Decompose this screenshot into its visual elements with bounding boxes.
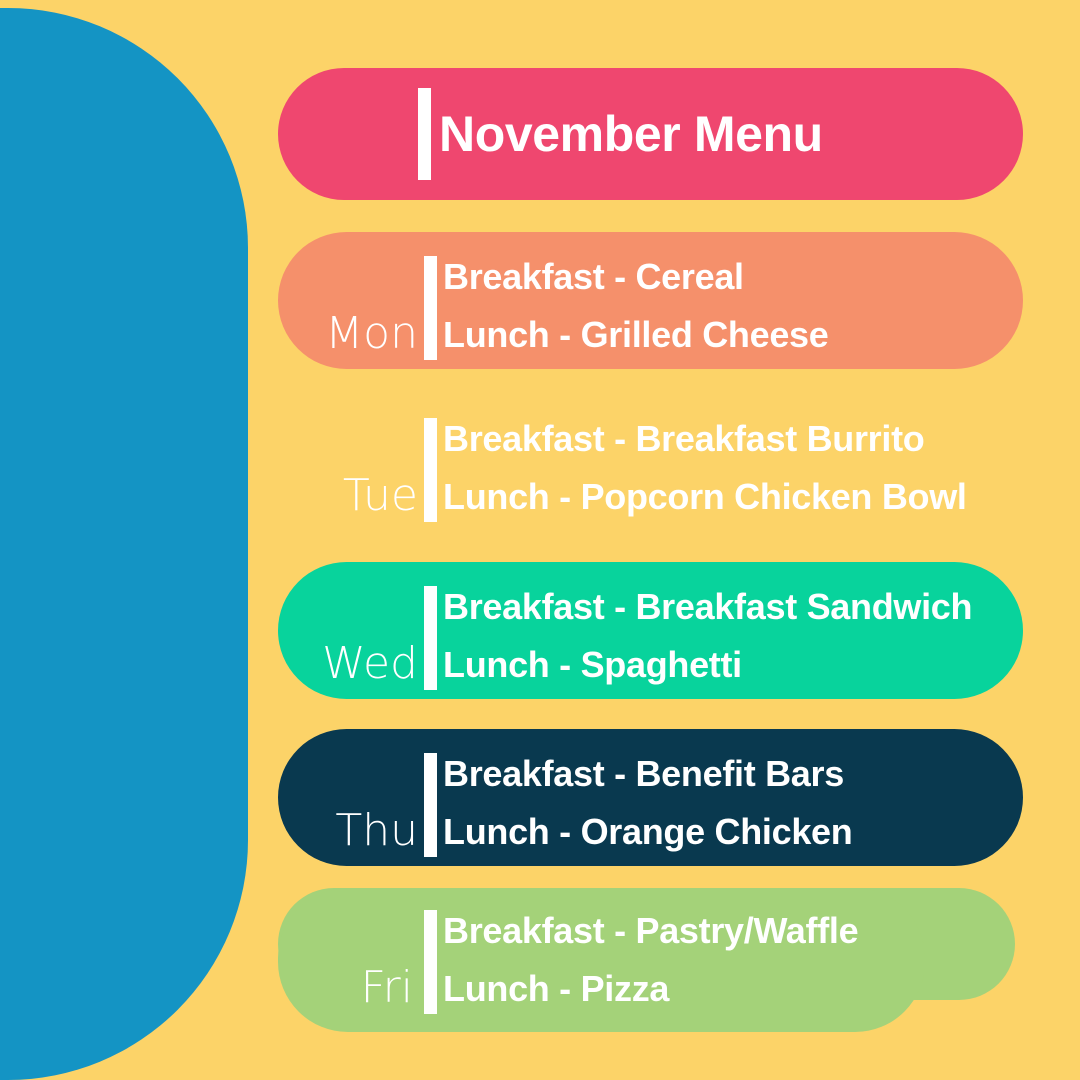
meal-list-mon: Breakfast - Cereal Lunch - Grilled Chees… [443,254,828,358]
lunch-line-mon: Lunch - Grilled Cheese [443,306,828,364]
day-row-mon: Mon Breakfast - Cereal Lunch - Grilled C… [278,232,1023,369]
blue-rounded-blob-decoration [0,8,248,1080]
breakfast-line-wed: Breakfast - Breakfast Sandwich [443,578,972,636]
day-row-content-fri: Fri Breakfast - Pastry/Waffle Lunch - Pi… [278,888,1023,1032]
meal-list-thu: Breakfast - Benefit Bars Lunch - Orange … [443,751,852,855]
day-accent-bar-icon-tue [424,418,437,522]
day-accent-bar-icon-fri [424,910,437,1014]
breakfast-line-fri: Breakfast - Pastry/Waffle [443,902,858,960]
day-row-wed: Wed Breakfast - Breakfast Sandwich Lunch… [278,562,1023,699]
breakfast-line-mon: Breakfast - Cereal [443,248,828,306]
day-accent-bar-icon-mon [424,256,437,360]
day-accent-bar-icon-wed [424,586,437,690]
day-row-content-tue: Tue Breakfast - Breakfast Burrito Lunch … [278,394,1023,531]
lunch-line-fri: Lunch - Pizza [443,960,858,1018]
meal-list-wed: Breakfast - Breakfast Sandwich Lunch - S… [443,584,972,688]
header-pill: November Menu [278,68,1023,200]
breakfast-line-tue: Breakfast - Breakfast Burrito [443,410,967,468]
header-accent-bar-icon [418,88,431,180]
day-label-thu: Thu [313,809,418,853]
meal-list-fri: Breakfast - Pastry/Waffle Lunch - Pizza [443,908,858,1012]
day-row-content-mon: Mon Breakfast - Cereal Lunch - Grilled C… [278,232,1023,369]
day-label-mon: Mon [318,312,418,356]
day-accent-bar-icon-thu [424,753,437,857]
header-inner: November Menu [418,88,823,180]
day-row-content-thu: Thu Breakfast - Benefit Bars Lunch - Ora… [278,729,1023,866]
breakfast-line-thu: Breakfast - Benefit Bars [443,745,852,803]
lunch-line-tue: Lunch - Popcorn Chicken Bowl [443,468,967,526]
day-row-tue: Tue Breakfast - Breakfast Burrito Lunch … [278,394,1023,531]
day-label-wed: Wed [308,642,418,686]
lunch-line-wed: Lunch - Spaghetti [443,636,972,694]
meal-list-tue: Breakfast - Breakfast Burrito Lunch - Po… [443,416,967,520]
day-row-fri: Fri Breakfast - Pastry/Waffle Lunch - Pi… [278,888,1023,1032]
menu-poster: November Menu Mon Breakfast - Cereal Lun… [0,0,1080,1080]
page-title: November Menu [439,105,823,163]
lunch-line-thu: Lunch - Orange Chicken [443,803,852,861]
day-row-content-wed: Wed Breakfast - Breakfast Sandwich Lunch… [278,562,1023,699]
day-label-tue: Tue [318,474,418,518]
day-label-fri: Fri [318,966,413,1010]
day-row-thu: Thu Breakfast - Benefit Bars Lunch - Ora… [278,729,1023,866]
